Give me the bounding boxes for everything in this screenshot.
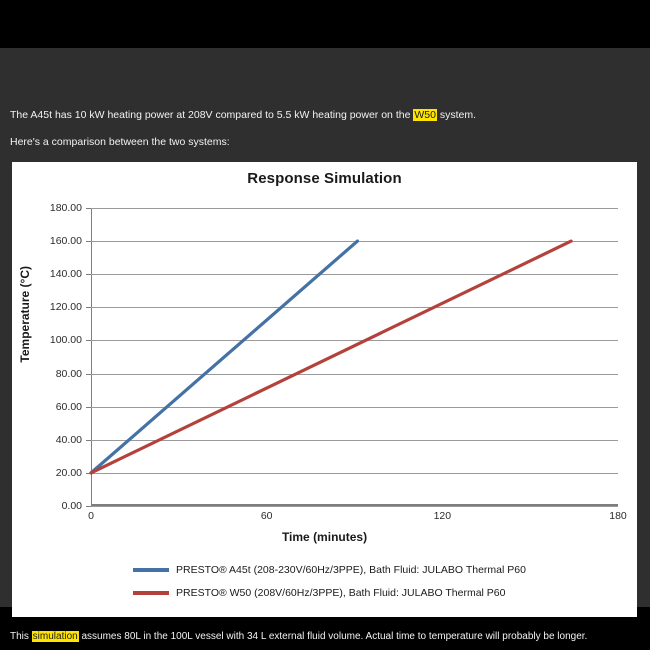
legend-item: PRESTO® A45t (208-230V/60Hz/3PPE), Bath … xyxy=(12,558,637,581)
message-line-1: The A45t has 10 kW heating power at 208V… xyxy=(10,108,476,122)
chart-legend: PRESTO® A45t (208-230V/60Hz/3PPE), Bath … xyxy=(12,558,637,604)
message-line-1-before: The A45t has 10 kW heating power at 208V… xyxy=(10,109,413,121)
y-tick-label: 20.00 xyxy=(56,467,82,479)
highlight-simulation: simulation xyxy=(32,631,79,642)
x-tick-label: 60 xyxy=(261,510,273,522)
series-lines xyxy=(91,208,618,507)
x-axis-title: Time (minutes) xyxy=(12,530,637,544)
screenshot-root: The A45t has 10 kW heating power at 208V… xyxy=(0,0,650,650)
plot-area: 0.0020.0040.0060.0080.00100.00120.00140.… xyxy=(91,208,618,506)
y-tick-label: 120.00 xyxy=(50,301,82,313)
footnote-before: This xyxy=(10,631,32,642)
chart-card: Response Simulation Temperature (°C) 0.0… xyxy=(12,162,637,617)
legend-swatch-icon xyxy=(133,591,169,595)
series-line xyxy=(91,241,357,473)
y-tick-label: 100.00 xyxy=(50,334,82,346)
legend-swatch-icon xyxy=(133,568,169,572)
x-tick-label: 120 xyxy=(434,510,452,522)
chart-title: Response Simulation xyxy=(12,170,637,187)
y-tick-label: 40.00 xyxy=(56,434,82,446)
y-axis-title: Temperature (°C) xyxy=(18,266,40,363)
message-panel: The A45t has 10 kW heating power at 208V… xyxy=(0,48,650,607)
footnote-after: assumes 80L in the 100L vessel with 34 L… xyxy=(79,631,588,642)
y-tick-label: 80.00 xyxy=(56,368,82,380)
highlight-w50: W50 xyxy=(413,109,437,121)
footnote: This simulation assumes 80L in the 100L … xyxy=(10,631,587,642)
y-tick-label: 60.00 xyxy=(56,401,82,413)
x-tick-label: 180 xyxy=(609,510,627,522)
legend-label: PRESTO® A45t (208-230V/60Hz/3PPE), Bath … xyxy=(176,564,526,576)
y-tick-label: 180.00 xyxy=(50,202,82,214)
message-line-1-after: system. xyxy=(437,109,476,121)
x-tick-label: 0 xyxy=(88,510,94,522)
message-line-2: Here's a comparison between the two syst… xyxy=(10,135,230,149)
legend-item: PRESTO® W50 (208V/60Hz/3PPE), Bath Fluid… xyxy=(12,581,637,604)
y-tick-label: 0.00 xyxy=(62,500,82,512)
y-tick-label: 160.00 xyxy=(50,235,82,247)
series-line xyxy=(91,241,571,473)
legend-label: PRESTO® W50 (208V/60Hz/3PPE), Bath Fluid… xyxy=(176,587,505,599)
y-tick-label: 140.00 xyxy=(50,268,82,280)
